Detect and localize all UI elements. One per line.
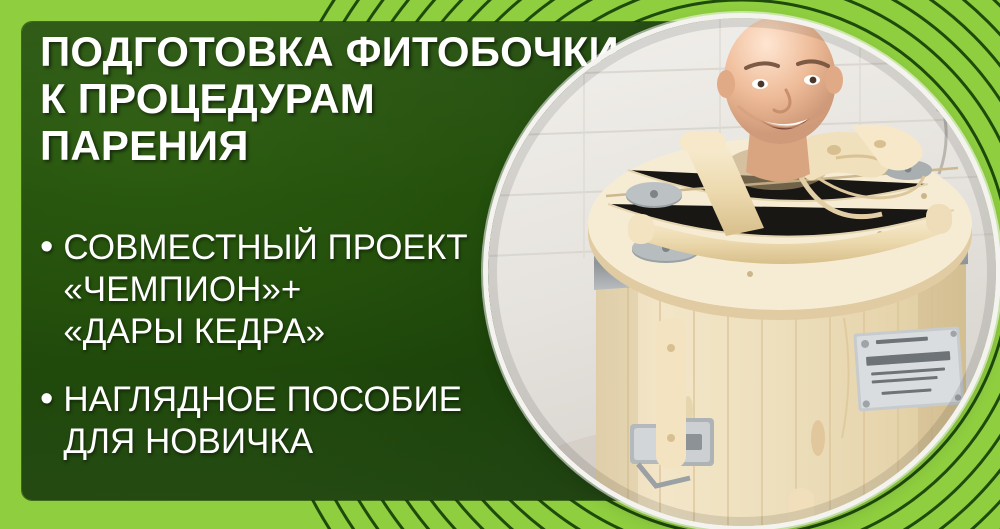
title-line-1: ПОДГОТОВКА ФИТОБОЧКИ [40,28,680,75]
bullet-2-line-2: ДЛЯ НОВИЧКА [63,421,462,463]
bullet-1-line-3: «ДАРЫ КЕДРА» [63,311,467,353]
bullet-1-line-2: «ЧЕМПИОН»+ [63,269,467,311]
banner-stage: ПОДГОТОВКА ФИТОБОЧКИ К ПРОЦЕДУРАМ ПАРЕНИ… [0,0,1000,529]
bullet-2-line-1: НАГЛЯДНОЕ ПОСОБИЕ [63,379,462,421]
bullet-dot-icon: • [40,379,53,419]
bullet-dot-icon: • [40,227,53,267]
list-item-text: СОВМЕСТНЫЙ ПРОЕКТ «ЧЕМПИОН»+ «ДАРЫ КЕДРА… [63,227,467,353]
list-item-text: НАГЛЯДНОЕ ПОСОБИЕ ДЛЯ НОВИЧКА [63,379,462,463]
bullet-1-line-1: СОВМЕСТНЫЙ ПРОЕКТ [63,227,467,269]
product-photo [488,18,996,526]
